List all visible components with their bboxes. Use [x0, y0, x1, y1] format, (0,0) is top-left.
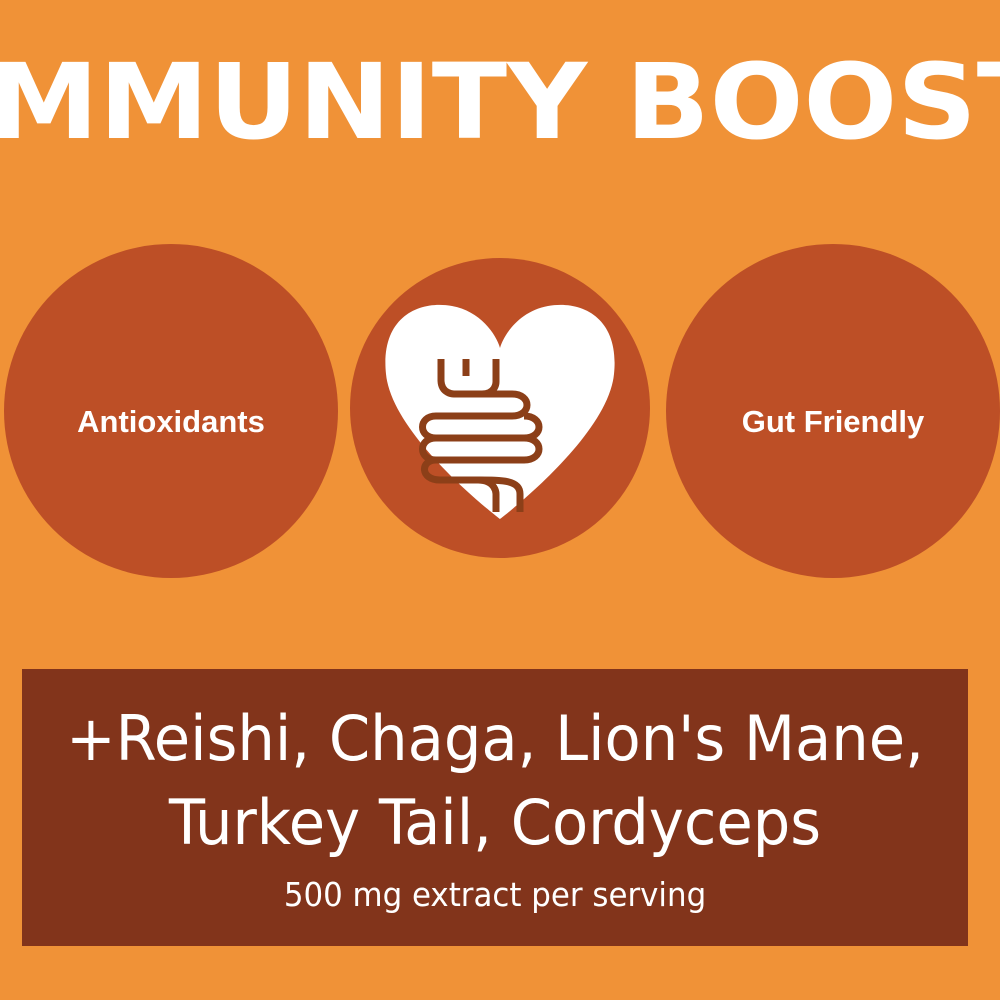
dosage-text: 500 mg extract per serving	[34, 877, 955, 913]
ingredients-panel: +Reishi, Chaga, Lion's Mane, Turkey Tail…	[22, 669, 968, 946]
heart-shape	[385, 304, 614, 518]
benefit-badge-antioxidants[interactable]: Antioxidants	[4, 244, 338, 578]
benefit-badge-gut-friendly[interactable]: Gut Friendly	[666, 244, 1000, 578]
page-title: IMMUNITY BOOST	[0, 47, 1000, 157]
immunity-boost-poster: IMMUNITY BOOST Antioxidants	[0, 0, 1000, 1000]
benefit-badge-gut-health[interactable]	[350, 258, 650, 558]
ingredients-list: +Reishi, Chaga, Lion's Mane, Turkey Tail…	[25, 697, 964, 865]
benefit-badge-label: Gut Friendly	[742, 405, 925, 439]
benefit-badge-row: Antioxidants	[0, 242, 1000, 552]
heart-intestine-icon	[384, 304, 616, 519]
benefit-badge-label: Antioxidants	[77, 405, 265, 439]
